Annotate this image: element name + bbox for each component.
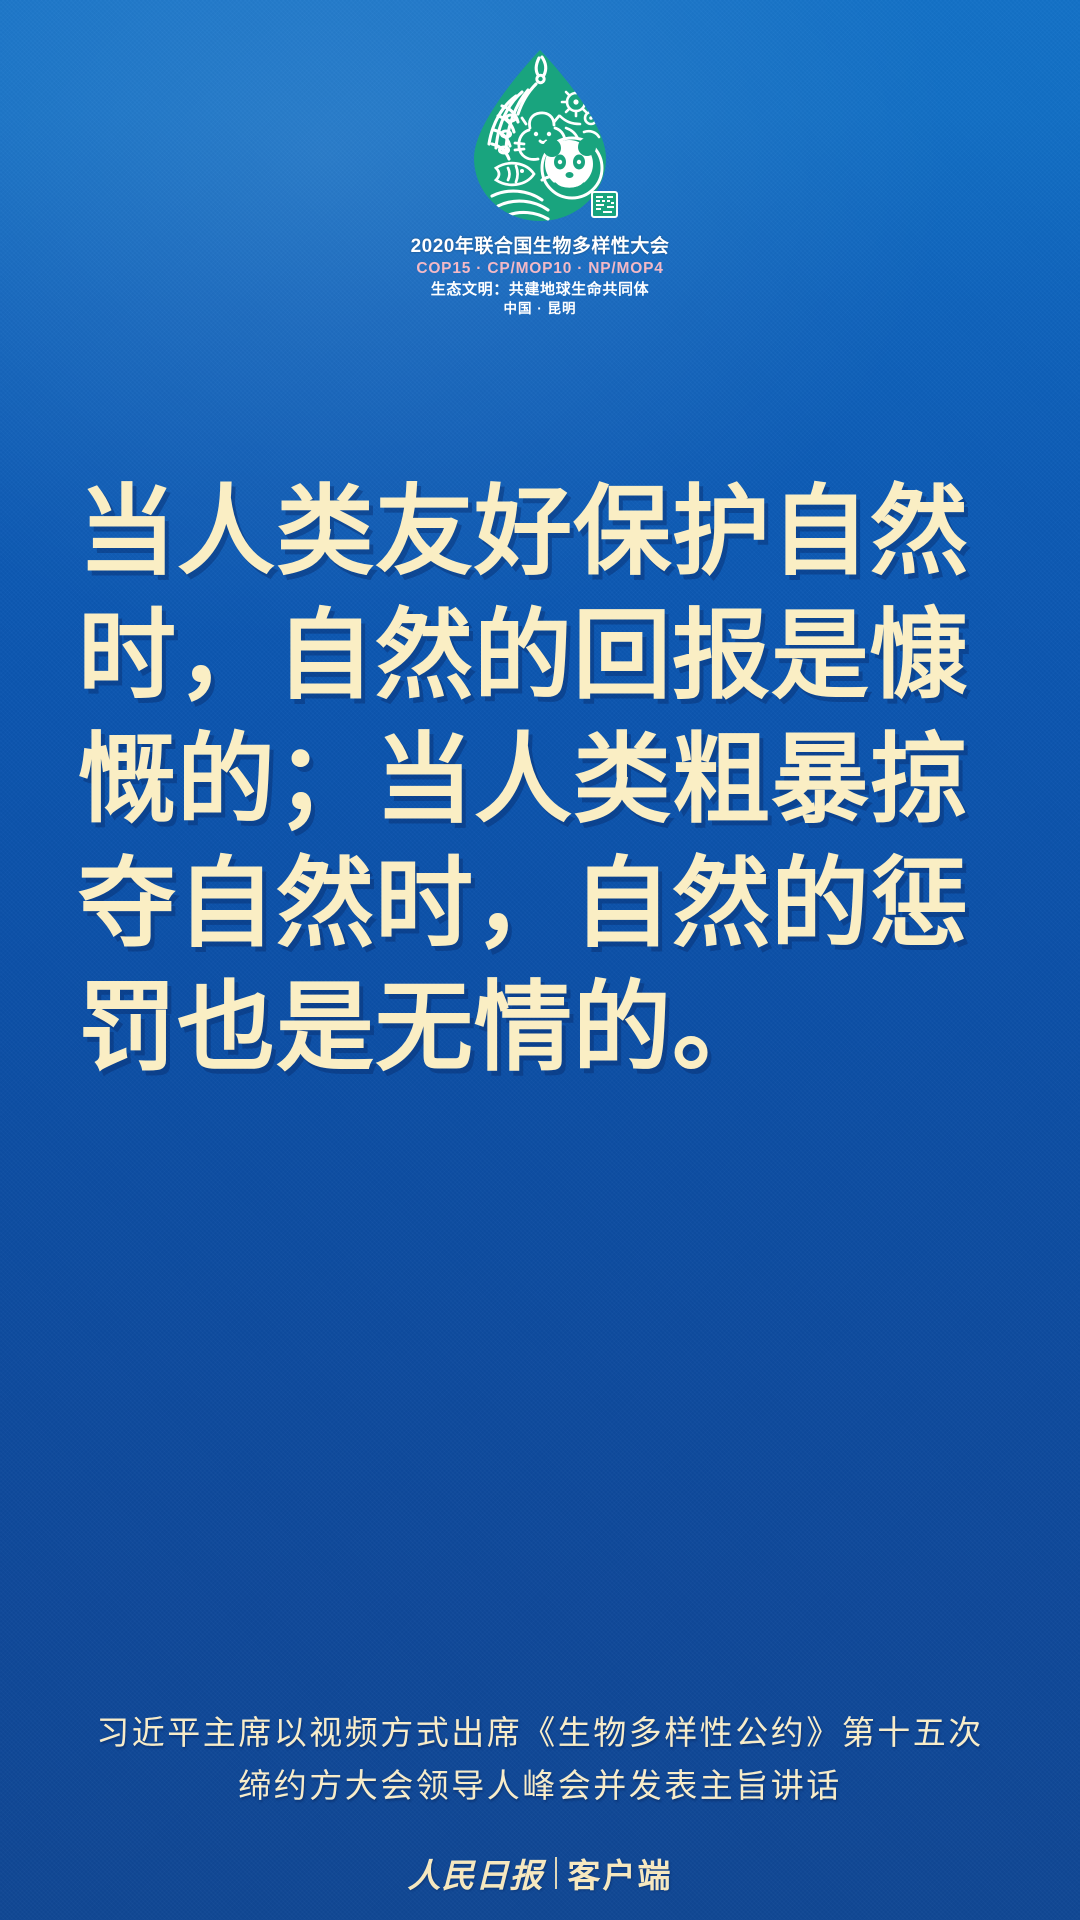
poster-root: 2020年联合国生物多样性大会 COP15 · CP/MOP10 · NP/MO… <box>0 0 1080 1920</box>
logo-caption-line-1: 2020年联合国生物多样性大会 <box>0 235 1080 259</box>
brand-name-peoples-daily: 人民日报 <box>408 1849 544 1897</box>
logo-caption-line-3: 生态文明：共建地球生命共同体 <box>0 280 1080 300</box>
caption-line-2: 缔约方大会领导人峰会并发表主旨讲话 <box>0 1759 1080 1812</box>
headline-line-5: 罚也是无情的。 <box>78 966 1002 1090</box>
headline-quote: 当人类友好保护自然 时，自然的回报是慷 慨的；当人类粗暴掠 夺自然时，自然的惩 … <box>0 470 1080 1090</box>
logo-caption-line-4: 中国 · 昆明 <box>0 300 1080 319</box>
brand-product-client: 客户端 <box>568 1849 673 1897</box>
headline-line-3: 慨的；当人类粗暴掠 <box>78 718 1002 842</box>
conference-logo-caption: 2020年联合国生物多样性大会 COP15 · CP/MOP10 · NP/MO… <box>0 235 1080 319</box>
source-caption: 习近平主席以视频方式出席《生物多样性公约》第十五次 缔约方大会领导人峰会并发表主… <box>0 1706 1080 1812</box>
brand-divider <box>555 1857 557 1889</box>
headline-line-4: 夺自然时，自然的惩 <box>78 842 1002 966</box>
headline-line-2: 时，自然的回报是慷 <box>78 594 1002 718</box>
logo-caption-line-2: COP15 · CP/MOP10 · NP/MOP4 <box>0 259 1080 280</box>
caption-line-1: 习近平主席以视频方式出席《生物多样性公约》第十五次 <box>0 1706 1080 1759</box>
cop15-biodiversity-emblem-icon <box>456 44 624 229</box>
publisher-brand: 人民日报 客户端 <box>0 1849 1080 1897</box>
chinese-seal-stamp-icon <box>592 192 617 217</box>
headline-line-1: 当人类友好保护自然 <box>78 470 1002 594</box>
conference-logo-block: 2020年联合国生物多样性大会 COP15 · CP/MOP10 · NP/MO… <box>0 44 1080 319</box>
